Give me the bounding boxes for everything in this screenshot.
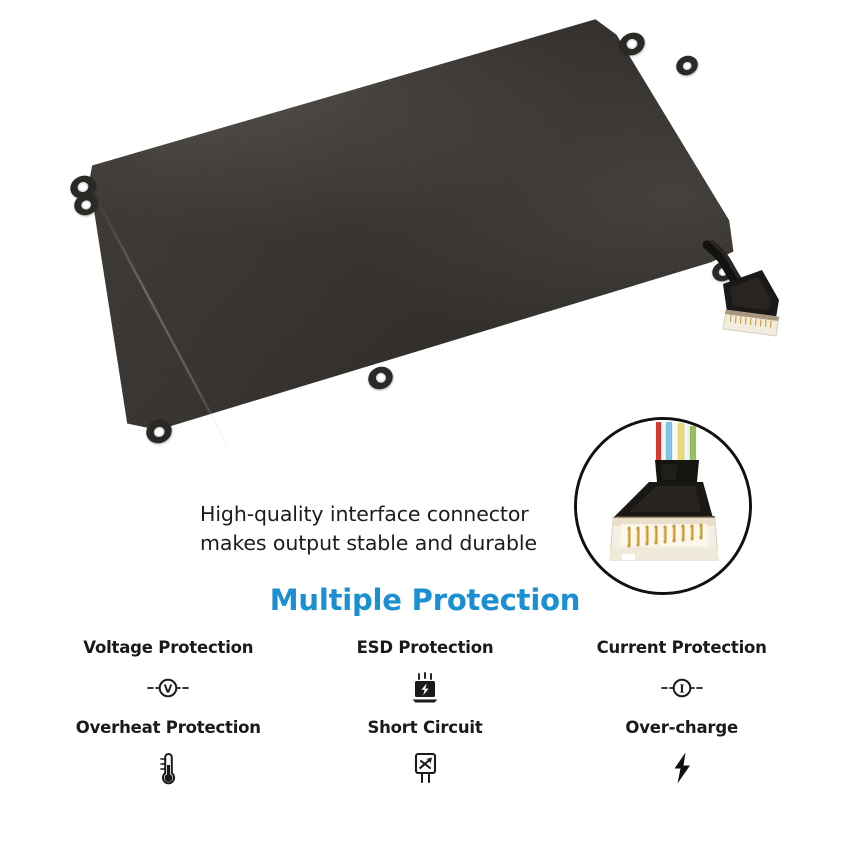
protection-label: Over-charge — [625, 720, 738, 737]
feature-caption: High-quality interface connector makes o… — [200, 500, 560, 558]
ribbon-wires — [656, 422, 696, 464]
protection-item-voltage: Voltage Protection V — [40, 640, 297, 720]
svg-text:V: V — [164, 682, 173, 695]
lightning-bolt-icon — [669, 751, 695, 785]
protection-label: Voltage Protection — [83, 640, 253, 657]
caption-line-1: High-quality interface connector — [200, 500, 560, 529]
protection-item-overheat: Overheat Protection — [40, 720, 297, 800]
protection-label: Current Protection — [597, 640, 767, 657]
protection-label: ESD Protection — [357, 640, 494, 657]
protection-features-grid: Voltage Protection V ESD Protection — [40, 640, 810, 800]
protection-item-overcharge: Over-charge — [553, 720, 810, 800]
housing-notch — [622, 554, 635, 560]
product-photo — [0, 0, 850, 470]
voltage-meter-icon: V — [145, 671, 191, 705]
protection-label: Overheat Protection — [76, 720, 261, 737]
short-circuit-plug-icon — [410, 751, 440, 785]
esd-discharge-icon — [410, 671, 440, 705]
svg-text:I: I — [679, 682, 684, 695]
battery-image — [0, 0, 850, 470]
protection-label: Short Circuit — [367, 720, 482, 737]
protection-item-current: Current Protection I — [553, 640, 810, 720]
caption-line-2: makes output stable and durable — [200, 529, 560, 558]
section-heading: Multiple Protection — [0, 583, 850, 617]
current-meter-icon: I — [659, 671, 705, 705]
protection-item-short-circuit: Short Circuit — [297, 720, 554, 800]
connector-closeup-inset — [574, 417, 752, 595]
protection-item-esd: ESD Protection — [297, 640, 554, 720]
thermometer-icon — [155, 751, 181, 785]
connector-closeup-illustration — [577, 420, 749, 592]
battery-cable-and-plug — [0, 0, 850, 470]
